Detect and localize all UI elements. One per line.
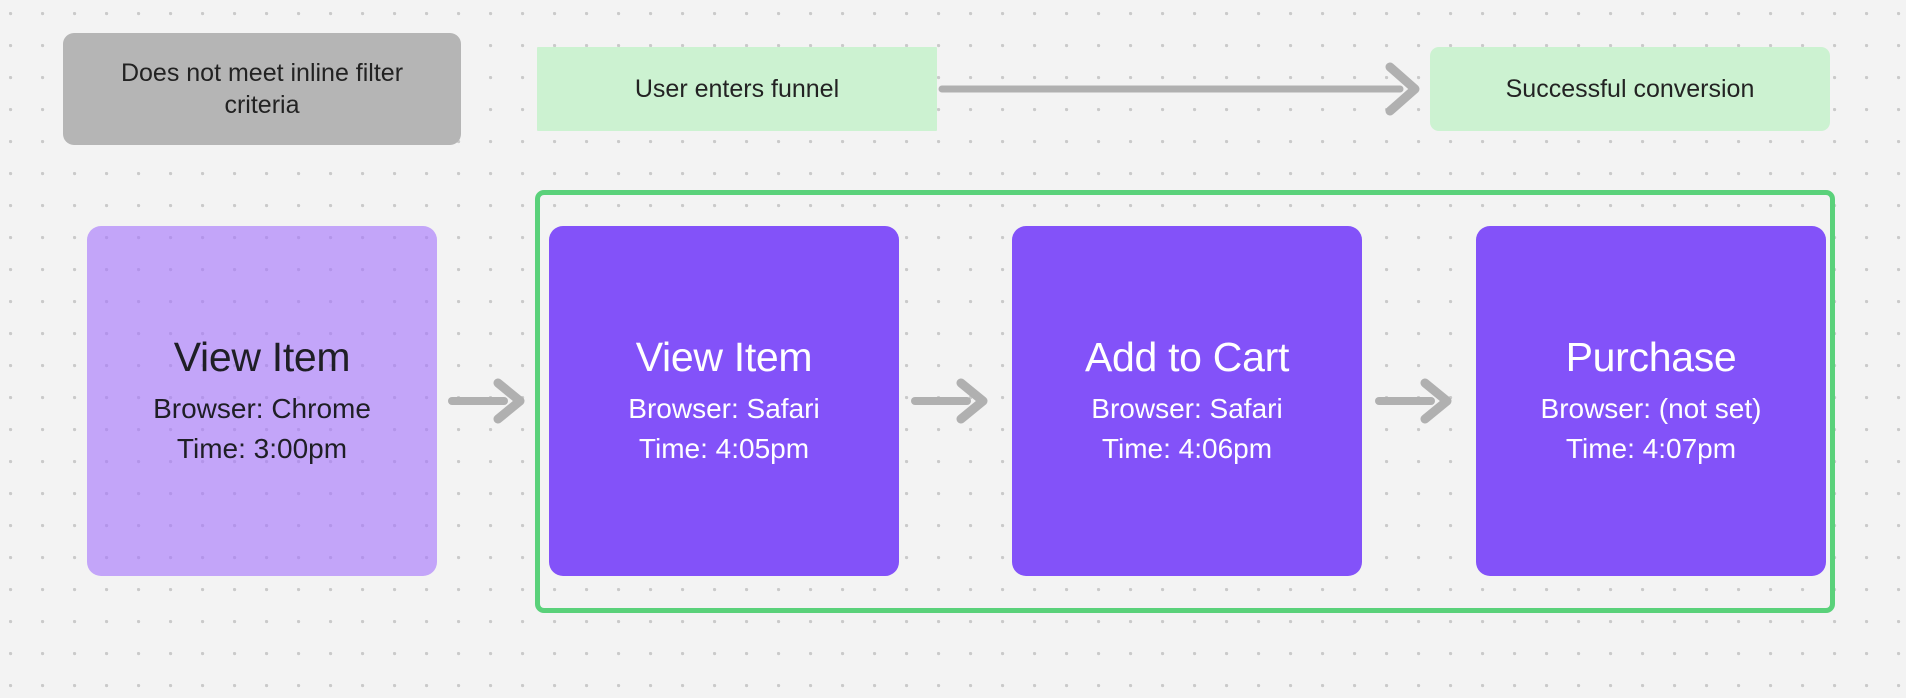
event-card-title: Add to Cart: [1085, 334, 1289, 381]
event-card-browser: Browser: (not set): [1541, 389, 1762, 429]
legend-conversion-label: Successful conversion: [1506, 73, 1755, 105]
event-card-title: View Item: [636, 334, 813, 381]
step-arrow-1: [448, 378, 530, 424]
legend-funnel-entry-box: User enters funnel: [537, 47, 937, 131]
legend-funnel-entry-label: User enters funnel: [635, 73, 839, 105]
event-card-add-to-cart[interactable]: Add to Cart Browser: Safari Time: 4:06pm: [1012, 226, 1362, 576]
legend-conversion-box: Successful conversion: [1430, 47, 1830, 131]
diagram-canvas: Does not meet inline filter criteria Use…: [0, 0, 1906, 698]
event-card-browser: Browser: Chrome: [153, 389, 371, 429]
event-card-time: Time: 4:07pm: [1566, 429, 1736, 469]
legend-excluded-label: Does not meet inline filter criteria: [89, 57, 435, 121]
event-card-title: Purchase: [1566, 334, 1737, 381]
event-card-time: Time: 4:05pm: [639, 429, 809, 469]
event-card-view-item[interactable]: View Item Browser: Safari Time: 4:05pm: [549, 226, 899, 576]
event-card-purchase[interactable]: Purchase Browser: (not set) Time: 4:07pm: [1476, 226, 1826, 576]
step-arrow-3: [1375, 378, 1457, 424]
arrow-right-icon: [911, 378, 993, 424]
event-card-time: Time: 4:06pm: [1102, 429, 1272, 469]
event-card-excluded[interactable]: View Item Browser: Chrome Time: 3:00pm: [87, 226, 437, 576]
event-card-title: View Item: [174, 334, 351, 381]
arrow-right-icon: [448, 378, 530, 424]
event-card-browser: Browser: Safari: [1091, 389, 1282, 429]
event-card-time: Time: 3:00pm: [177, 429, 347, 469]
arrow-right-icon: [1375, 378, 1457, 424]
legend-excluded-box: Does not meet inline filter criteria: [63, 33, 461, 145]
legend-flow-arrow: [938, 61, 1430, 117]
step-arrow-2: [911, 378, 993, 424]
event-card-browser: Browser: Safari: [628, 389, 819, 429]
legend-arrow-icon: [938, 61, 1430, 117]
